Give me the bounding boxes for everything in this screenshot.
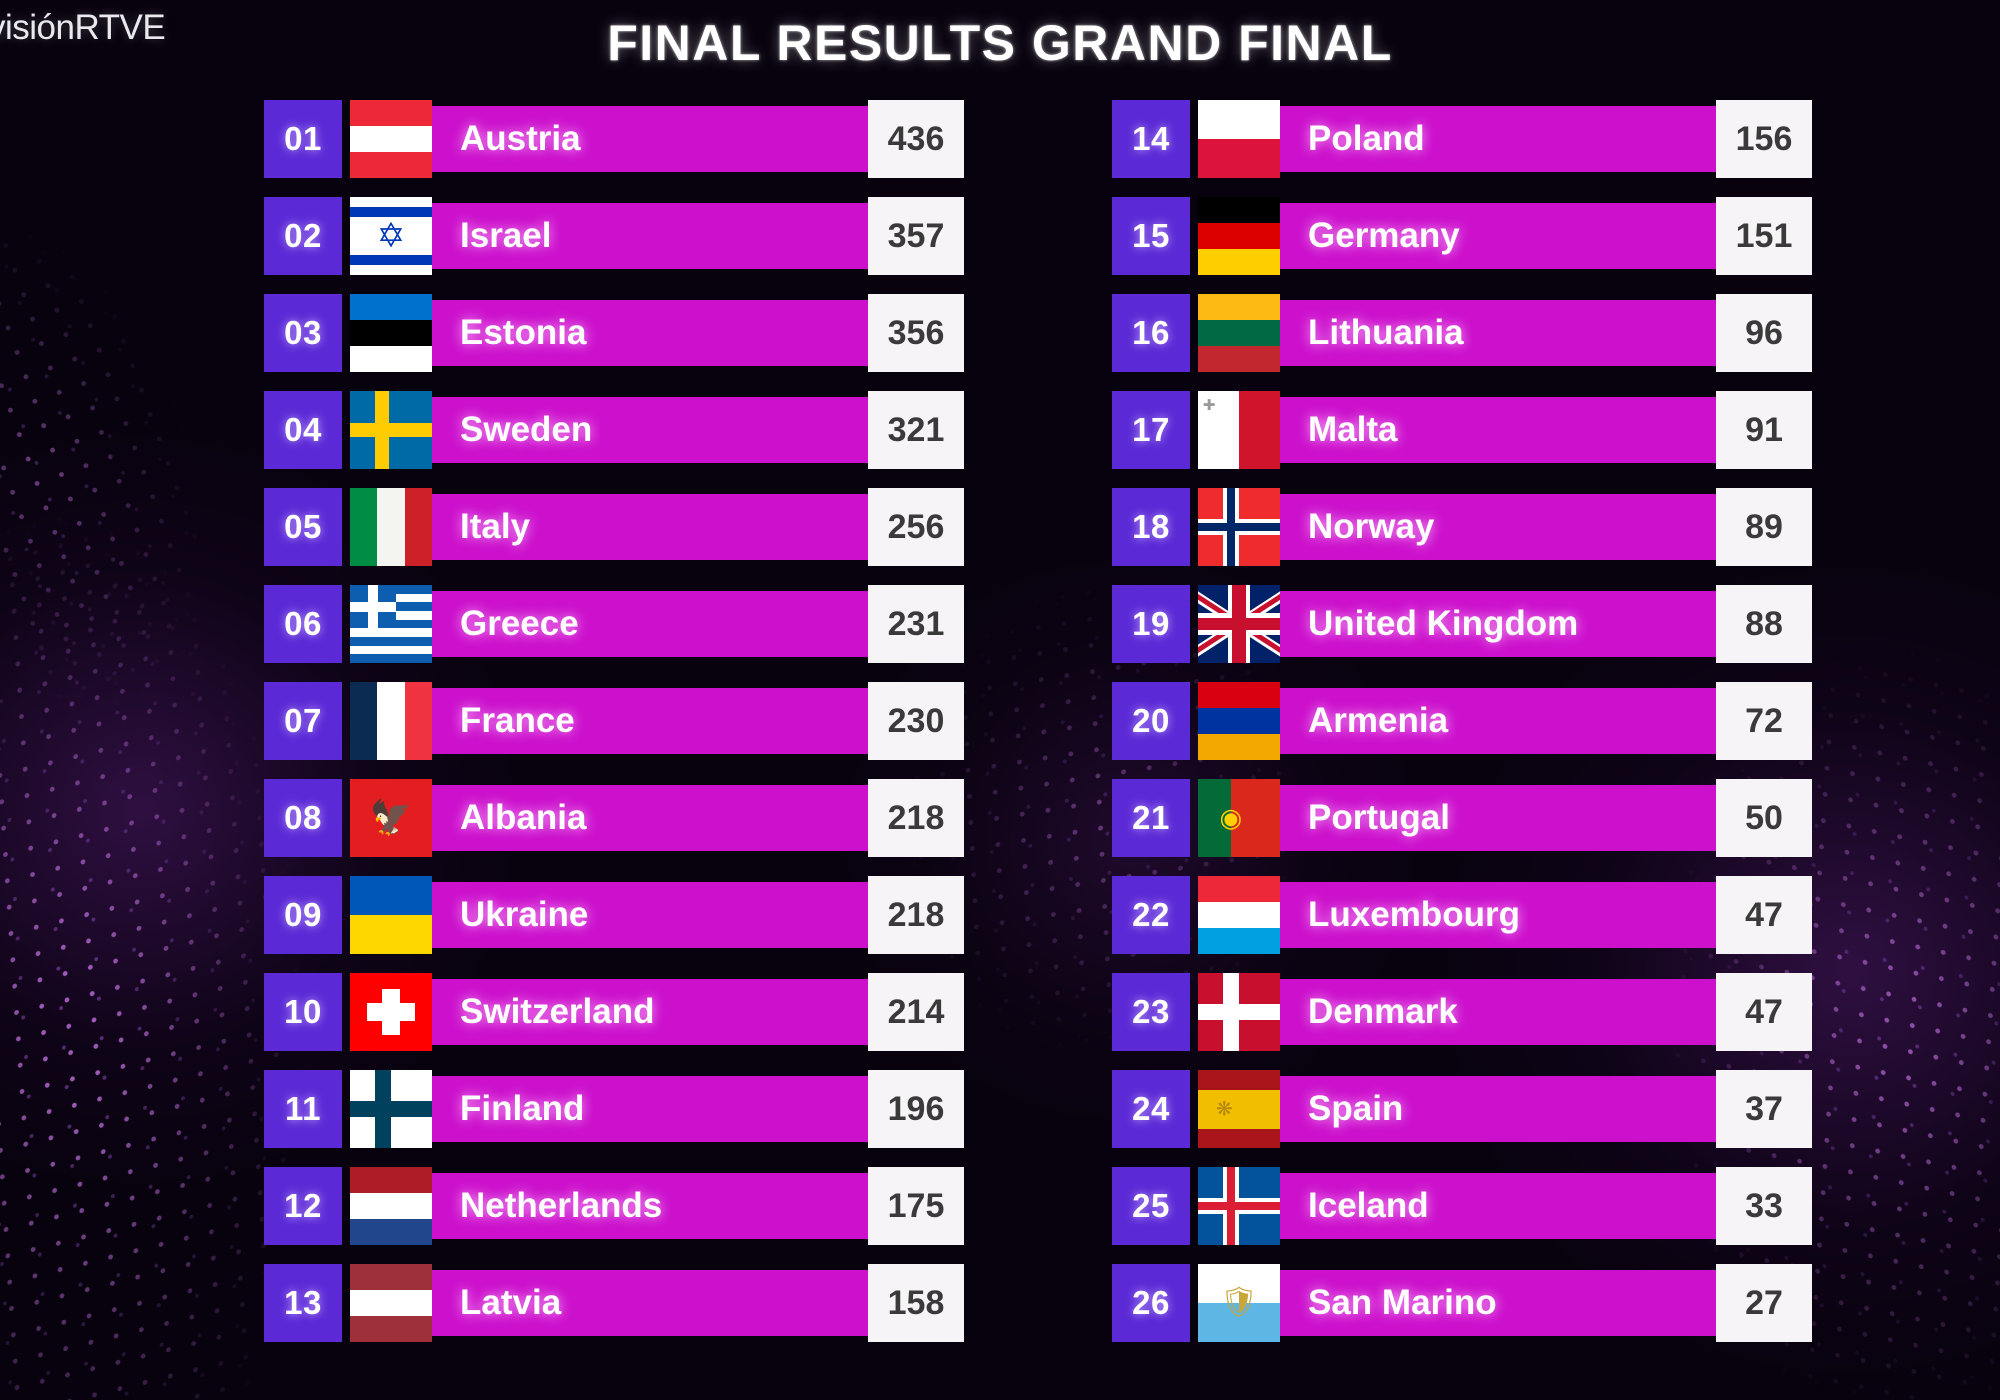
flag-icon-mt: ✚: [1198, 391, 1280, 469]
flag-icon-nl: [350, 1167, 432, 1245]
points-value: 91: [1716, 391, 1812, 469]
country-name: Albania: [432, 798, 586, 838]
points-value: 356: [868, 294, 964, 372]
rank-number: 09: [264, 876, 342, 954]
rank-number: 03: [264, 294, 342, 372]
country-name: Italy: [432, 507, 530, 547]
points-value: 218: [868, 779, 964, 857]
flag-icon-dk: [1198, 973, 1280, 1051]
country-name: Portugal: [1280, 798, 1450, 838]
table-row[interactable]: 15 Germany 151: [1112, 197, 1812, 275]
rank-number: 05: [264, 488, 342, 566]
points-value: 33: [1716, 1167, 1812, 1245]
table-row[interactable]: 10 Switzerland 214: [264, 973, 964, 1051]
points-value: 47: [1716, 973, 1812, 1051]
country-name: Netherlands: [432, 1186, 662, 1226]
table-row[interactable]: 24 ❋ Spain 37: [1112, 1070, 1812, 1148]
country-name: Germany: [1280, 216, 1460, 256]
points-value: 231: [868, 585, 964, 663]
table-row[interactable]: 22 Luxembourg 47: [1112, 876, 1812, 954]
flag-icon-pl: [1198, 100, 1280, 178]
flag-icon-ch: [350, 973, 432, 1051]
country-bar: Albania: [432, 785, 872, 851]
country-bar: Austria: [432, 106, 872, 172]
table-row[interactable]: 06 Greece 231: [264, 585, 964, 663]
points-value: 175: [868, 1167, 964, 1245]
rank-number: 17: [1112, 391, 1190, 469]
country-name: Latvia: [432, 1283, 561, 1323]
rank-number: 13: [264, 1264, 342, 1342]
flag-icon-sm: 🛡: [1198, 1264, 1280, 1342]
country-bar: Finland: [432, 1076, 872, 1142]
country-bar: Iceland: [1280, 1173, 1720, 1239]
country-name: Denmark: [1280, 992, 1458, 1032]
country-bar: Spain: [1280, 1076, 1720, 1142]
country-bar: San Marino: [1280, 1270, 1720, 1336]
country-name: Austria: [432, 119, 581, 159]
flag-icon-fi: [350, 1070, 432, 1148]
table-row[interactable]: 08 🦅 Albania 218: [264, 779, 964, 857]
points-value: 214: [868, 973, 964, 1051]
points-value: 27: [1716, 1264, 1812, 1342]
points-value: 256: [868, 488, 964, 566]
country-bar: Israel: [432, 203, 872, 269]
points-value: 196: [868, 1070, 964, 1148]
rank-number: 24: [1112, 1070, 1190, 1148]
country-name: San Marino: [1280, 1283, 1497, 1323]
table-row[interactable]: 17 ✚ Malta 91: [1112, 391, 1812, 469]
flag-icon-ee: [350, 294, 432, 372]
country-bar: Portugal: [1280, 785, 1720, 851]
rank-number: 25: [1112, 1167, 1190, 1245]
flag-icon-at: [350, 100, 432, 178]
flag-icon-no: [1198, 488, 1280, 566]
country-name: Estonia: [432, 313, 586, 353]
table-row[interactable]: 23 Denmark 47: [1112, 973, 1812, 1051]
flag-icon-ua: [350, 876, 432, 954]
table-row[interactable]: 20 Armenia 72: [1112, 682, 1812, 760]
country-name: Israel: [432, 216, 551, 256]
table-row[interactable]: 09 Ukraine 218: [264, 876, 964, 954]
flag-icon-lv: [350, 1264, 432, 1342]
rank-number: 11: [264, 1070, 342, 1148]
table-row[interactable]: 26 🛡 San Marino 27: [1112, 1264, 1812, 1342]
table-row[interactable]: 21 ◉ Portugal 50: [1112, 779, 1812, 857]
country-bar: Estonia: [432, 300, 872, 366]
country-bar: Lithuania: [1280, 300, 1720, 366]
rank-number: 12: [264, 1167, 342, 1245]
table-row[interactable]: 19 United Kingdom 88: [1112, 585, 1812, 663]
country-name: Spain: [1280, 1089, 1403, 1129]
points-value: 321: [868, 391, 964, 469]
rank-number: 06: [264, 585, 342, 663]
country-name: Norway: [1280, 507, 1434, 547]
flag-icon-se: [350, 391, 432, 469]
country-name: Luxembourg: [1280, 895, 1520, 935]
table-row[interactable]: 18 Norway 89: [1112, 488, 1812, 566]
country-bar: Sweden: [432, 397, 872, 463]
table-row[interactable]: 04 Sweden 321: [264, 391, 964, 469]
country-name: Greece: [432, 604, 579, 644]
country-bar: Malta: [1280, 397, 1720, 463]
rank-number: 20: [1112, 682, 1190, 760]
country-bar: Germany: [1280, 203, 1720, 269]
country-name: Armenia: [1280, 701, 1448, 741]
country-name: Malta: [1280, 410, 1397, 450]
points-value: 47: [1716, 876, 1812, 954]
table-row[interactable]: 01 Austria 436: [264, 100, 964, 178]
country-name: Iceland: [1280, 1186, 1429, 1226]
flag-icon-lu: [1198, 876, 1280, 954]
flag-icon-it: [350, 488, 432, 566]
country-name: Finland: [432, 1089, 584, 1129]
country-bar: France: [432, 688, 872, 754]
points-value: 357: [868, 197, 964, 275]
country-bar: Denmark: [1280, 979, 1720, 1045]
page-title: FINAL RESULTS GRAND FINAL: [0, 14, 2000, 72]
country-name: United Kingdom: [1280, 604, 1578, 644]
header-bar: visiónRTVE FINAL RESULTS GRAND FINAL: [0, 0, 2000, 84]
points-value: 218: [868, 876, 964, 954]
points-value: 436: [868, 100, 964, 178]
rank-number: 19: [1112, 585, 1190, 663]
country-bar: Armenia: [1280, 688, 1720, 754]
rank-number: 22: [1112, 876, 1190, 954]
flag-icon-il: ✡: [350, 197, 432, 275]
flag-icon-gb: [1198, 585, 1280, 663]
rank-number: 07: [264, 682, 342, 760]
flag-icon-es: ❋: [1198, 1070, 1280, 1148]
country-bar: Poland: [1280, 106, 1720, 172]
table-row[interactable]: 13 Latvia 158: [264, 1264, 964, 1342]
scoreboard-column-left: 01 Austria 436 02 ✡ Israel 357 03 Estoni…: [264, 100, 964, 1361]
scoreboard: 01 Austria 436 02 ✡ Israel 357 03 Estoni…: [0, 0, 2000, 1400]
country-name: Ukraine: [432, 895, 588, 935]
table-row[interactable]: 02 ✡ Israel 357: [264, 197, 964, 275]
rank-number: 01: [264, 100, 342, 178]
points-value: 230: [868, 682, 964, 760]
country-name: Lithuania: [1280, 313, 1464, 353]
flag-icon-lt: [1198, 294, 1280, 372]
rank-number: 15: [1112, 197, 1190, 275]
points-value: 50: [1716, 779, 1812, 857]
points-value: 151: [1716, 197, 1812, 275]
table-row[interactable]: 07 France 230: [264, 682, 964, 760]
rank-number: 18: [1112, 488, 1190, 566]
rank-number: 04: [264, 391, 342, 469]
country-name: France: [432, 701, 575, 741]
points-value: 88: [1716, 585, 1812, 663]
scoreboard-column-right: 14 Poland 156 15 Germany 151 16 Lithuani…: [1112, 100, 1812, 1361]
points-value: 89: [1716, 488, 1812, 566]
points-value: 72: [1716, 682, 1812, 760]
country-bar: Italy: [432, 494, 872, 560]
country-bar: United Kingdom: [1280, 591, 1720, 657]
table-row[interactable]: 03 Estonia 356: [264, 294, 964, 372]
rank-number: 23: [1112, 973, 1190, 1051]
table-row[interactable]: 16 Lithuania 96: [1112, 294, 1812, 372]
flag-icon-al: 🦅: [350, 779, 432, 857]
table-row[interactable]: 14 Poland 156: [1112, 100, 1812, 178]
flag-icon-de: [1198, 197, 1280, 275]
country-bar: Luxembourg: [1280, 882, 1720, 948]
country-name: Sweden: [432, 410, 592, 450]
rank-number: 21: [1112, 779, 1190, 857]
country-bar: Greece: [432, 591, 872, 657]
table-row[interactable]: 11 Finland 196: [264, 1070, 964, 1148]
flag-icon-gr: [350, 585, 432, 663]
table-row[interactable]: 05 Italy 256: [264, 488, 964, 566]
country-name: Poland: [1280, 119, 1425, 159]
points-value: 96: [1716, 294, 1812, 372]
rank-number: 02: [264, 197, 342, 275]
country-bar: Netherlands: [432, 1173, 872, 1239]
flag-icon-am: [1198, 682, 1280, 760]
country-name: Switzerland: [432, 992, 654, 1032]
flag-icon-pt: ◉: [1198, 779, 1280, 857]
points-value: 156: [1716, 100, 1812, 178]
rank-number: 14: [1112, 100, 1190, 178]
country-bar: Ukraine: [432, 882, 872, 948]
flag-icon-is: [1198, 1167, 1280, 1245]
points-value: 158: [868, 1264, 964, 1342]
flag-icon-fr: [350, 682, 432, 760]
country-bar: Norway: [1280, 494, 1720, 560]
rank-number: 16: [1112, 294, 1190, 372]
table-row[interactable]: 25 Iceland 33: [1112, 1167, 1812, 1245]
table-row[interactable]: 12 Netherlands 175: [264, 1167, 964, 1245]
points-value: 37: [1716, 1070, 1812, 1148]
rank-number: 08: [264, 779, 342, 857]
rank-number: 10: [264, 973, 342, 1051]
country-bar: Switzerland: [432, 979, 872, 1045]
country-bar: Latvia: [432, 1270, 872, 1336]
rank-number: 26: [1112, 1264, 1190, 1342]
